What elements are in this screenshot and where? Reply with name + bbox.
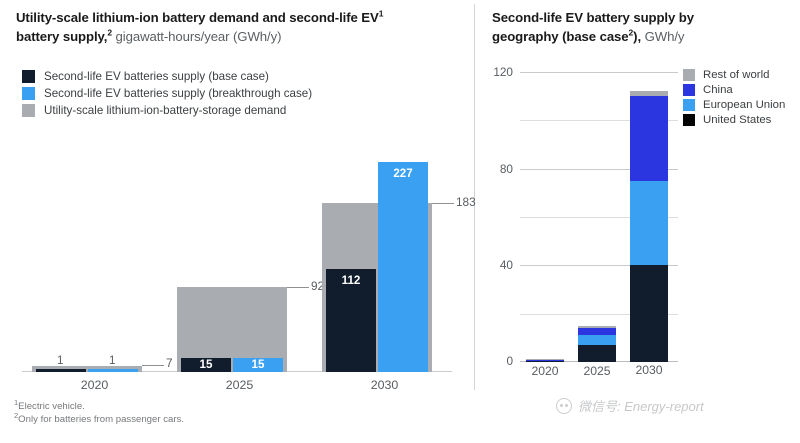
segment-european-union-2020[interactable] (526, 360, 564, 361)
left-title-main: Utility-scale lithium-ion battery demand… (16, 10, 379, 25)
legend-label-european-union: European Union (703, 99, 785, 111)
legend-label-china: China (703, 84, 733, 96)
value-label-base-case-2020: 1 (57, 354, 63, 367)
segment-european-union-2030[interactable] (630, 181, 668, 266)
watermark-text: 微信号: Energy-report (578, 396, 704, 415)
value-label-demand-2030: 183 (456, 195, 476, 209)
right-title-line1: Second-life EV battery supply by (492, 10, 694, 25)
x-axis-label-right-2020: 2020 (526, 364, 564, 378)
right-plot-area: 120 80 40 0 2020 (520, 72, 678, 362)
stacked-bar-2025[interactable]: 2025 (578, 326, 616, 362)
footnote-2: 2Only for batteries from passenger cars. (14, 413, 184, 426)
segment-united-states-2025[interactable] (578, 345, 616, 362)
y-axis-tick-40: 40 (500, 258, 513, 272)
legend-item-breakthrough-case: Second-life EV batteries supply (breakth… (22, 87, 312, 100)
legend-swatch-european-union (683, 99, 695, 111)
segment-rest-of-world-2020[interactable] (526, 359, 564, 360)
legend-swatch-base-case (22, 70, 35, 83)
legend-label-rest-of-world: Rest of world (703, 69, 769, 81)
footnote-text-2: Only for batteries from passenger cars. (18, 414, 184, 425)
segment-united-states-2030[interactable] (630, 265, 668, 362)
legend-swatch-demand (22, 104, 35, 117)
legend-label-breakthrough-case: Second-life EV batteries supply (breakth… (44, 87, 312, 100)
leader-line-demand-2030 (432, 203, 454, 204)
bar-group-2020: 7 1 1 2020 (32, 150, 157, 372)
bar-breakthrough-2025[interactable]: 15 (233, 358, 283, 372)
footnote-1: 1Electric vehicle. (14, 400, 184, 413)
x-axis-label-2030: 2030 (322, 378, 447, 392)
watermark: 微信号: Energy-report (556, 396, 704, 415)
x-axis-label-2025: 2025 (177, 378, 302, 392)
bar-base-case-2025[interactable]: 15 (181, 358, 231, 372)
y-axis-tick-120: 120 (493, 65, 513, 79)
left-chart-title: Utility-scale lithium-ion battery demand… (16, 8, 456, 46)
right-title-line2: geography (base case (492, 29, 629, 44)
segment-european-union-2025[interactable] (578, 335, 616, 345)
right-chart-panel: Second-life EV battery supply by geograp… (478, 0, 800, 443)
legend-swatch-united-states (683, 114, 695, 126)
bar-base-case-2020[interactable] (36, 369, 86, 372)
right-chart-title: Second-life EV battery supply by geograp… (492, 8, 792, 46)
legend-swatch-breakthrough-case (22, 87, 35, 100)
bar-breakthrough-2030[interactable]: 227 (378, 162, 428, 372)
legend-item-demand: Utility-scale lithium-ion-battery-storag… (22, 104, 312, 117)
y-axis-tick-80: 80 (500, 162, 513, 176)
legend-swatch-china (683, 84, 695, 96)
segment-china-2025[interactable] (578, 328, 616, 335)
value-label-breakthrough-2025: 15 (233, 358, 283, 371)
value-label-demand-2020: 7 (166, 356, 173, 370)
left-chart-legend: Second-life EV batteries supply (base ca… (22, 70, 312, 121)
footnotes: 1Electric vehicle. 2Only for batteries f… (14, 400, 184, 426)
right-chart-legend: Rest of world China European Union Unite… (683, 69, 785, 129)
legend-item-base-case: Second-life EV batteries supply (base ca… (22, 70, 312, 83)
legend-item-european-union: European Union (683, 99, 785, 111)
left-chart-panel: Utility-scale lithium-ion battery demand… (0, 0, 470, 443)
y-axis-tick-0: 0 (506, 354, 513, 368)
bar-group-2030: 183 112 227 2030 (322, 150, 447, 372)
left-title-line2: battery supply, (16, 29, 107, 44)
stacked-bar-2030[interactable]: 2030 (630, 91, 668, 362)
legend-swatch-rest-of-world (683, 69, 695, 81)
legend-label-demand: Utility-scale lithium-ion-battery-storag… (44, 104, 286, 117)
bar-group-2025: 92 15 15 2025 (177, 150, 302, 372)
chart-page: Utility-scale lithium-ion battery demand… (0, 0, 800, 443)
bar-base-case-2030[interactable]: 112 (326, 269, 376, 372)
x-axis-label-right-2030: 2030 (630, 363, 668, 377)
legend-item-rest-of-world: Rest of world (683, 69, 785, 81)
right-title-unit: GWh/y (645, 29, 685, 44)
gridline-120: 120 (520, 72, 678, 73)
segment-rest-of-world-2030[interactable] (630, 91, 668, 96)
value-label-base-case-2025: 15 (181, 358, 231, 371)
value-label-base-case-2030: 112 (326, 274, 376, 287)
left-title-footnote-marker-1: 1 (379, 9, 384, 19)
segment-united-states-2020[interactable] (526, 361, 564, 363)
x-axis-label-2020: 2020 (32, 378, 157, 392)
legend-label-united-states: United States (703, 114, 771, 126)
stacked-bar-2020[interactable]: 2020 (526, 359, 564, 362)
footnote-text-1: Electric vehicle. (18, 401, 85, 412)
legend-label-base-case: Second-life EV batteries supply (base ca… (44, 70, 269, 83)
wechat-icon (556, 398, 572, 414)
value-label-breakthrough-2020: 1 (109, 354, 115, 367)
x-axis-label-right-2025: 2025 (578, 364, 616, 378)
leader-line-demand-2025 (287, 287, 309, 288)
value-label-breakthrough-2030: 227 (378, 167, 428, 180)
segment-rest-of-world-2025[interactable] (578, 326, 616, 328)
legend-item-united-states: United States (683, 114, 785, 126)
leader-line-demand-2020 (142, 365, 164, 366)
legend-item-china: China (683, 84, 785, 96)
right-title-line2-end: ), (633, 29, 644, 44)
left-title-unit: gigawatt-hours/year (GWh/y) (112, 29, 281, 44)
bar-breakthrough-2020[interactable] (88, 369, 138, 372)
left-plot-area: 7 1 1 2020 92 15 15 2025 (22, 150, 452, 372)
segment-china-2030[interactable] (630, 96, 668, 181)
